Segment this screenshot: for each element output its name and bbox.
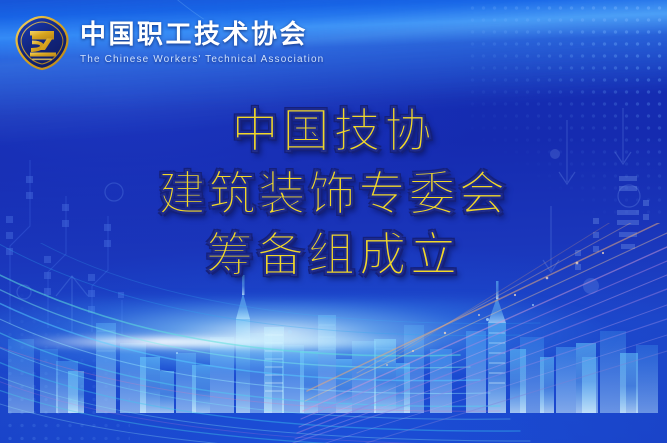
- cwta-shield-logo-icon: [14, 14, 70, 72]
- poster-title-block: 中国技协 建筑装饰专委会 筹备组成立: [0, 108, 667, 279]
- title-line-3: 筹备组成立: [0, 232, 667, 279]
- header-bar: 中国职工技术协会 The Chinese Workers' Technical …: [0, 0, 667, 86]
- spark-dot: [532, 304, 534, 306]
- org-name-chinese: 中国职工技术协会: [80, 21, 324, 49]
- title-line-2: 建筑装饰专委会: [0, 171, 667, 218]
- spark-dot: [176, 352, 178, 354]
- poster-canvas: 中国职工技术协会 The Chinese Workers' Technical …: [0, 0, 667, 443]
- spark-dot: [288, 330, 292, 334]
- organization-name-block: 中国职工技术协会 The Chinese Workers' Technical …: [80, 21, 324, 65]
- spark-dot: [486, 318, 489, 321]
- title-line-1: 中国技协: [0, 108, 667, 155]
- org-name-english: The Chinese Workers' Technical Associati…: [80, 54, 324, 65]
